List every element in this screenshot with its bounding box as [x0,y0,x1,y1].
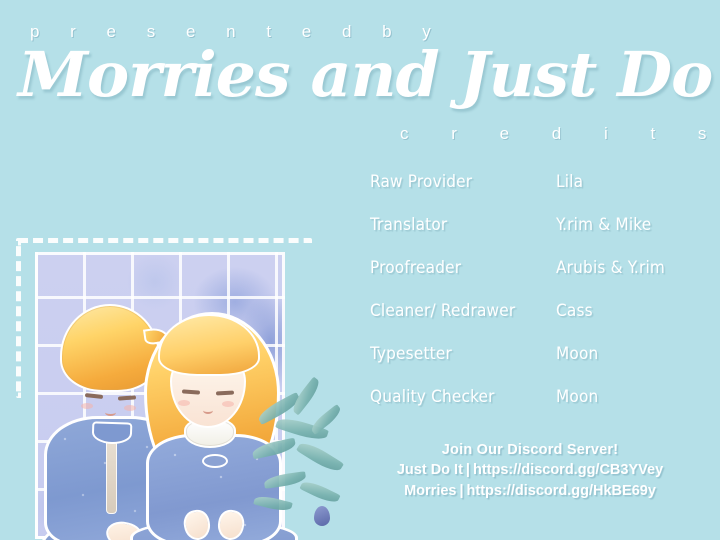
credits-table: Raw Provider Lila Translator Y.rim & Mik… [370,172,700,430]
table-row: Quality Checker Moon [370,387,700,430]
table-row: Translator Y.rim & Mike [370,215,700,258]
discord-section: Join Our Discord Server! Just Do It|http… [340,440,720,502]
discord-server-row: Morries|https://discord.gg/HkBE69y [340,481,720,502]
berry-icon [314,506,330,526]
boy-shirt-placket [106,436,117,514]
credit-name: Moon [556,387,700,407]
table-row: Typesetter Moon [370,344,700,387]
girl-blush-left [178,400,190,406]
credit-role: Cleaner/ Redrawer [370,301,556,321]
credit-name: Moon [556,344,700,364]
discord-invite-link[interactable]: https://discord.gg/HkBE69y [467,483,656,499]
studio-title: Morries and Just Do It [18,40,720,110]
table-row: Raw Provider Lila [370,172,700,215]
discord-heading: Join Our Discord Server! [340,440,720,460]
credit-role: Proofreader [370,258,556,278]
watercolor-foliage [252,388,348,538]
girl-blush-right [222,401,234,407]
leaf-icon [251,438,297,460]
girl-waist-bow [202,454,228,468]
boy-eye-right [118,395,136,400]
leaf-icon [299,478,340,506]
credit-role: Typesetter [370,344,556,364]
discord-invite-link[interactable]: https://discord.gg/CB3YVey [473,462,663,478]
credit-role: Raw Provider [370,172,556,192]
boy-blush-left [81,403,93,409]
girl-mouth [203,407,213,414]
discord-server-row: Just Do It|https://discord.gg/CB3YVey [340,460,720,481]
credit-name: Cass [556,301,700,321]
discord-separator: | [456,483,466,499]
credit-role: Translator [370,215,556,235]
credit-role: Quality Checker [370,387,556,407]
discord-separator: | [463,462,473,478]
boy-blush-right [124,405,136,411]
credits-page: p r e s e n t e d b y Morries and Just D… [0,0,720,540]
credit-name: Lila [556,172,700,192]
credits-heading: c r e d i t s [400,124,720,144]
boy-mouth [105,409,116,416]
credit-name: Y.rim & Mike [556,215,700,235]
leaf-icon [253,494,293,514]
discord-server-label: Morries [404,483,456,499]
illustration-artwork [0,112,340,540]
table-row: Cleaner/ Redrawer Cass [370,301,700,344]
credit-name: Arubis & Y.rim [556,258,700,278]
discord-server-label: Just Do It [397,462,463,478]
table-row: Proofreader Arubis & Y.rim [370,258,700,301]
leaf-icon [296,438,344,475]
boy-eye-left [85,393,103,399]
